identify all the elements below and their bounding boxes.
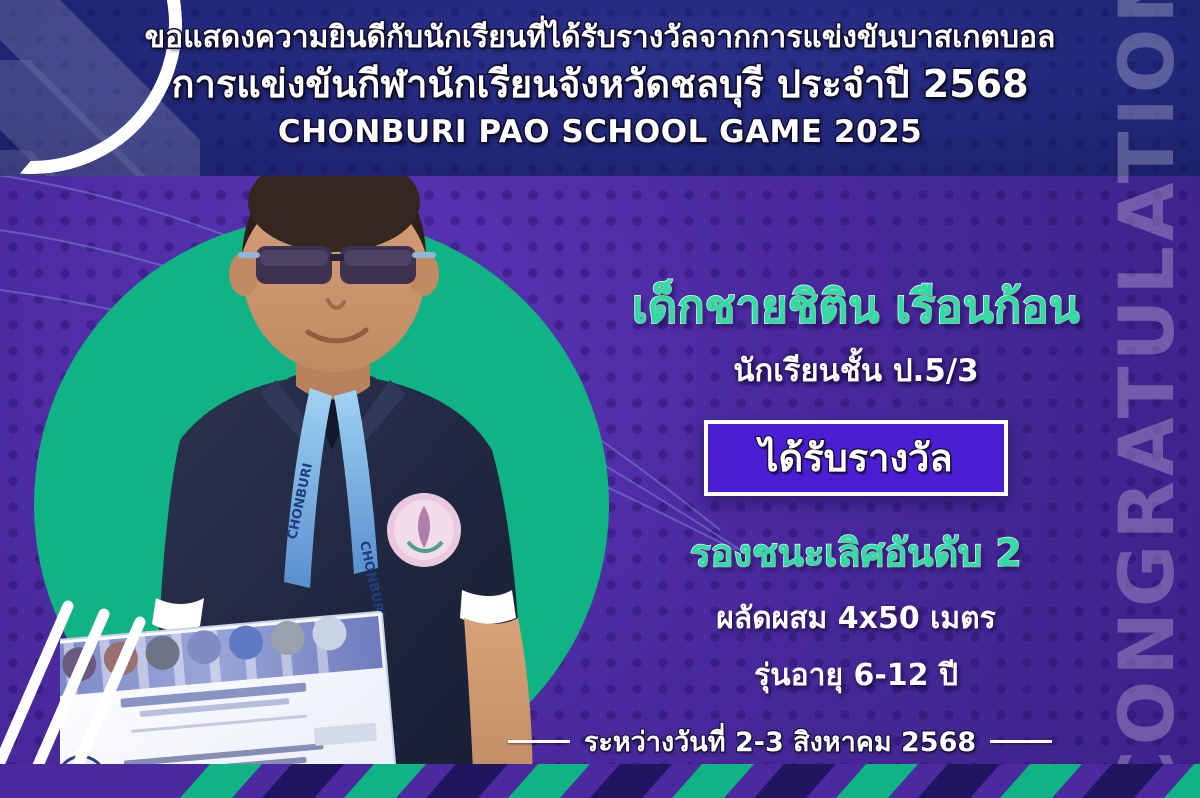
- header-title-block: ขอแสดงความยินดีกับนักเรียนที่ได้รับรางวั…: [0, 0, 1200, 149]
- student-name: เด็กชายชิติน เรือนก้อน: [632, 282, 1080, 332]
- award-details-panel: เด็กชายชิติน เรือนก้อน นักเรียนชั้น ป.5/…: [600, 178, 1112, 718]
- header-line-1: ขอแสดงความยินดีกับนักเรียนที่ได้รับรางวั…: [0, 20, 1200, 56]
- event-date-row: ระหว่างวันที่ 2-3 สิงหาคม 2568: [430, 720, 1130, 762]
- award-received-box: ได้รับรางวัล: [704, 420, 1008, 496]
- award-rank: รองชนะเลิศอันดับ 2: [690, 522, 1022, 583]
- header-line-3: CHONBURI PAO SCHOOL GAME 2025: [0, 115, 1200, 149]
- award-event: ผลัดผสม 4x50 เมตร: [716, 595, 996, 642]
- date-rule-left: [508, 740, 570, 743]
- student-class: นักเรียนชั้น ป.5/3: [733, 345, 979, 395]
- event-date-text: ระหว่างวันที่ 2-3 สิงหาคม 2568: [584, 720, 976, 763]
- congratulation-poster: CHONBURI CHONBURI: [0, 0, 1200, 798]
- award-age-group: รุ่นอายุ 6-12 ปี: [754, 652, 958, 699]
- bottom-stripe-band: [0, 764, 1200, 798]
- header-line-2: การแข่งขันกีฬานักเรียนจังหวัดชลบุรี ประจ…: [0, 62, 1200, 108]
- award-received-label: ได้รับรางวัล: [759, 439, 952, 477]
- vertical-congratulation-text: CONGRATULATION: [1103, 0, 1192, 798]
- date-rule-right: [990, 740, 1052, 743]
